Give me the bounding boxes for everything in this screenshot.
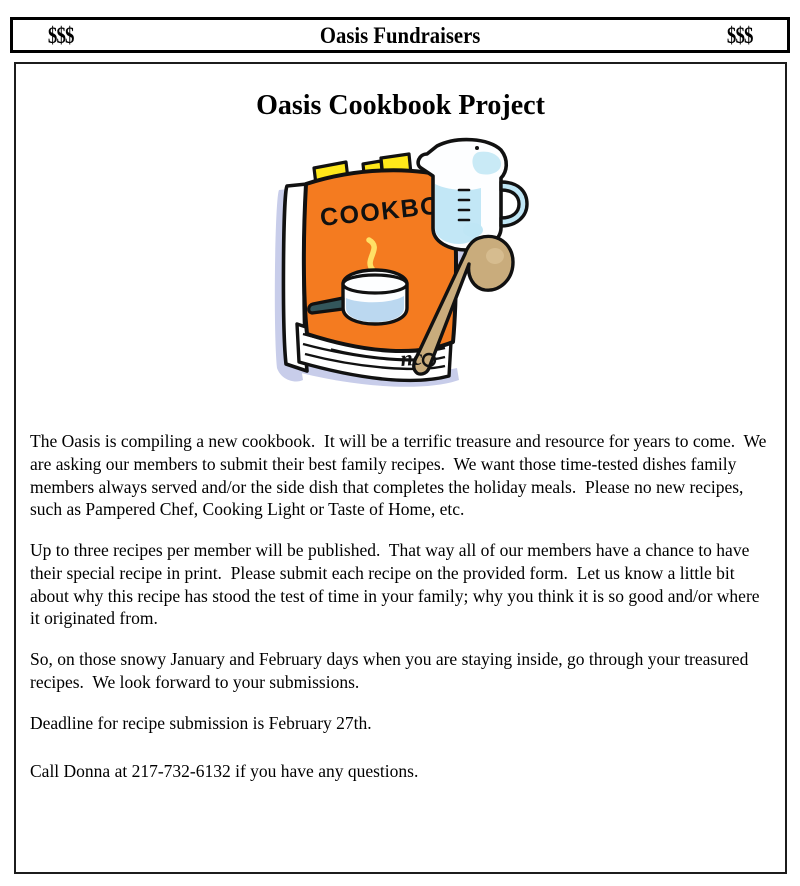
paragraph-intro: The Oasis is compiling a new cookbook. I…: [30, 430, 773, 521]
header-title: Oasis Fundraisers: [320, 24, 480, 47]
cookbook-illustration: COOKBOOK: [251, 128, 551, 418]
svg-text:nc: nc: [399, 344, 423, 370]
paragraph-contact: Call Donna at 217-732-6132 if you have a…: [30, 760, 773, 783]
paragraph-deadline: Deadline for recipe submission is Februa…: [30, 712, 773, 735]
paragraph-submission-rules: Up to three recipes per member will be p…: [30, 539, 773, 630]
header-banner: $$$ Oasis Fundraisers $$$: [10, 17, 790, 53]
page-title: Oasis Cookbook Project: [16, 90, 785, 122]
measuring-cup: [418, 140, 527, 250]
dollar-signs-right: $$$: [726, 24, 752, 47]
cookbook-clipart-svg: COOKBOOK: [251, 128, 551, 418]
dollar-signs-left: $$$: [48, 24, 74, 47]
paragraph-call-to-action: So, on those snowy January and February …: [30, 648, 773, 694]
flyer-text: The Oasis is compiling a new cookbook. I…: [30, 430, 773, 783]
flyer-body: Oasis Cookbook Project: [14, 62, 787, 874]
